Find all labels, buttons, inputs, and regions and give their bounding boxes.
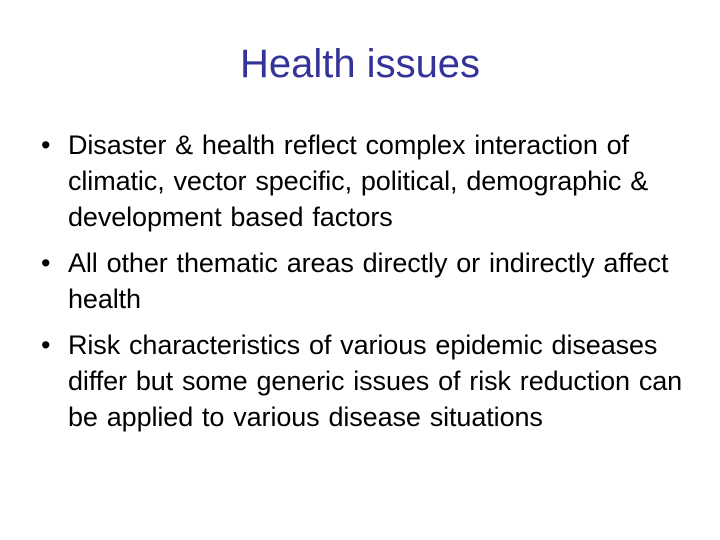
bullet-icon: •: [38, 127, 68, 163]
presentation-slide: Health issues • Disaster & health reflec…: [0, 0, 720, 540]
page-title: Health issues: [0, 40, 720, 88]
bullet-list: • Disaster & health reflect complex inte…: [38, 127, 698, 435]
list-item-text: Risk characteristics of various epidemic…: [68, 327, 698, 435]
bullet-icon: •: [38, 327, 68, 363]
list-item: • Disaster & health reflect complex inte…: [38, 127, 698, 235]
list-item-text: Disaster & health reflect complex intera…: [68, 127, 698, 235]
list-item: • Risk characteristics of various epidem…: [38, 327, 698, 435]
bullet-icon: •: [38, 245, 68, 281]
list-item-text: All other thematic areas directly or ind…: [68, 245, 698, 317]
list-item: • All other thematic areas directly or i…: [38, 245, 698, 317]
